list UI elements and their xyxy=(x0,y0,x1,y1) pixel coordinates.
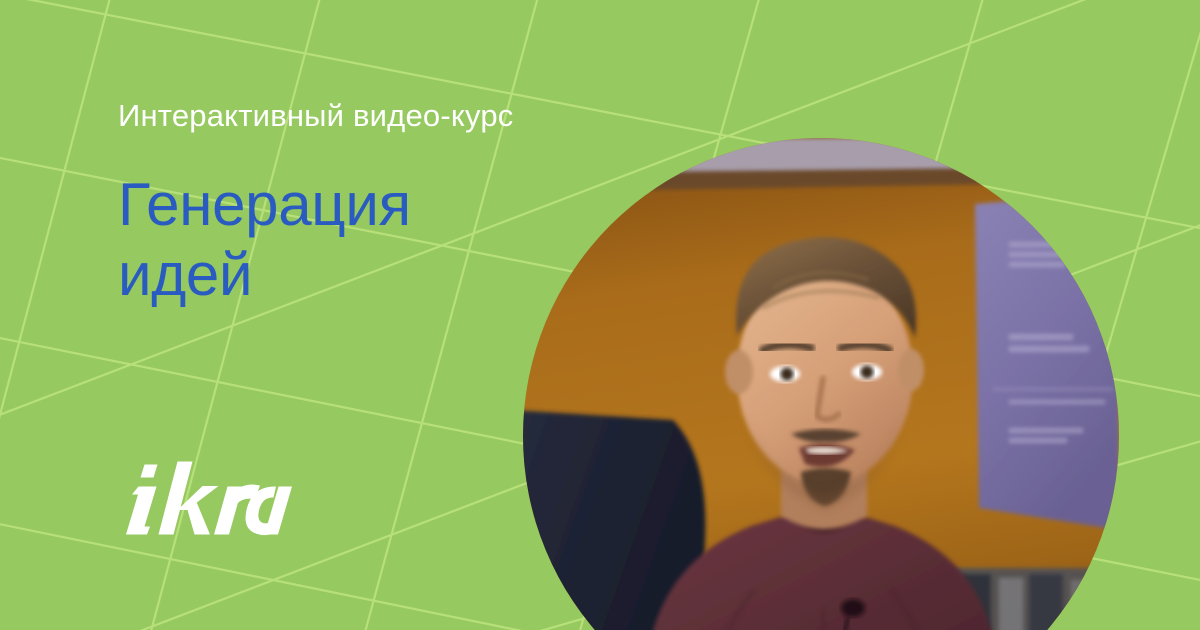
page-title-line-2: идей xyxy=(118,240,678,310)
course-subtitle: Интерактивный видео-курс xyxy=(118,96,678,136)
page-title-line-1: Генерация xyxy=(118,170,678,240)
ikra-logo-icon xyxy=(116,458,292,542)
promo-card: Интерактивный видео-курс Генерация идей xyxy=(0,0,1200,630)
ikra-logo[interactable] xyxy=(116,458,292,542)
text-block: Интерактивный видео-курс Генерация идей xyxy=(118,96,678,310)
page-title: Генерация идей xyxy=(118,170,678,310)
